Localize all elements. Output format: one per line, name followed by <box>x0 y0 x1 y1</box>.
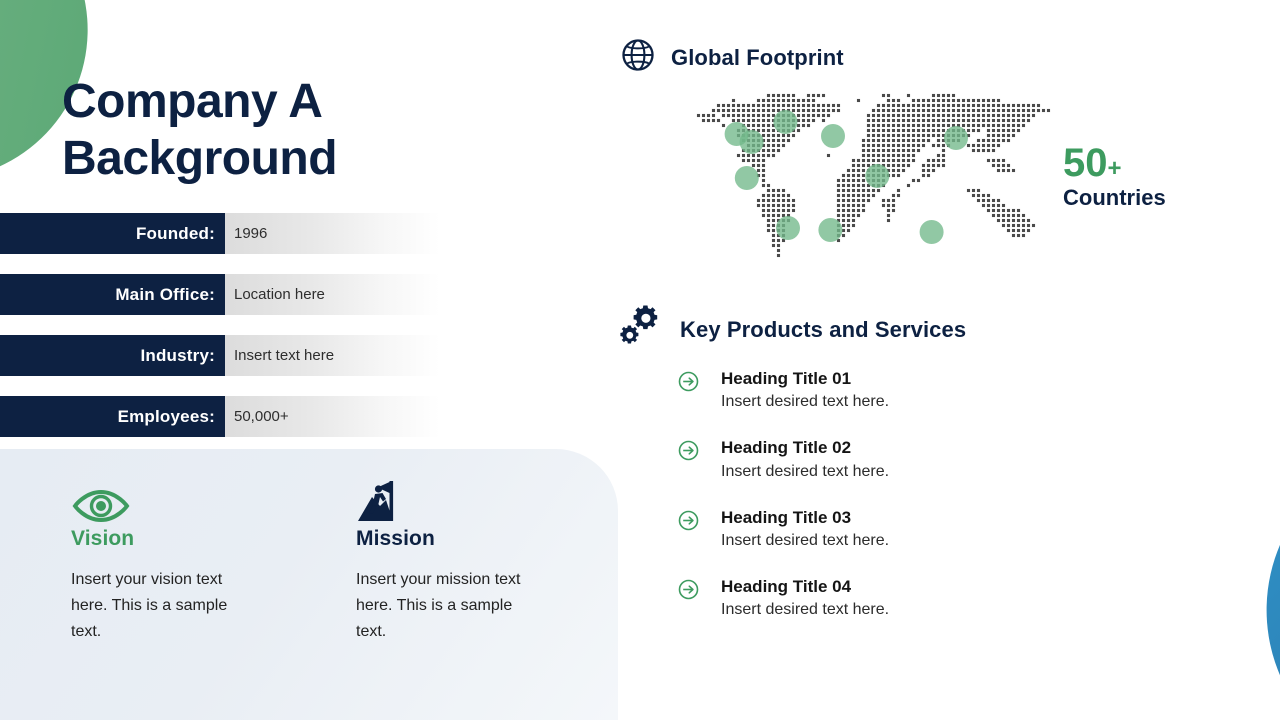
info-label-industry: Industry: <box>0 335 225 376</box>
mission-block: Mission Insert your mission text here. T… <box>356 483 566 645</box>
info-label-founded: Founded: <box>0 213 225 254</box>
decor-blue-shape-back <box>1200 378 1280 720</box>
mission-text: Insert your mission text here. This is a… <box>356 567 536 645</box>
list-item-title: Heading Title 04 <box>721 576 1098 597</box>
table-row: Employees: 50,000+ <box>0 396 440 437</box>
list-item[interactable]: Heading Title 04 Insert desired text her… <box>678 576 1098 622</box>
circle-arrow-right-icon <box>678 510 699 536</box>
list-item-desc: Insert desired text here. <box>721 460 1098 484</box>
countries-stat-plus: + <box>1108 155 1122 182</box>
table-row: Founded: 1996 <box>0 213 440 254</box>
list-item-title: Heading Title 03 <box>721 507 1098 528</box>
key-products-header: Key Products and Services <box>618 305 966 354</box>
vision-block: Vision Insert your vision text here. Thi… <box>71 483 281 645</box>
list-item[interactable]: Heading Title 01 Insert desired text her… <box>678 368 1098 414</box>
list-item-title: Heading Title 02 <box>721 437 1098 458</box>
info-value-main-office[interactable]: Location here <box>225 274 440 315</box>
world-map <box>686 88 1061 288</box>
countries-stat-label: Countries <box>1063 185 1166 210</box>
page-title: Company A Background <box>62 74 542 187</box>
key-products-list: Heading Title 01 Insert desired text her… <box>678 368 1098 645</box>
vision-heading: Vision <box>71 527 281 551</box>
info-label-employees: Employees: <box>0 396 225 437</box>
global-footprint-title: Global Footprint <box>671 45 844 71</box>
list-item-desc: Insert desired text here. <box>721 529 1098 553</box>
circle-arrow-right-icon <box>678 440 699 466</box>
list-item-desc: Insert desired text here. <box>721 598 1098 622</box>
key-products-title: Key Products and Services <box>680 317 966 343</box>
mission-heading: Mission <box>356 527 566 551</box>
countries-stat-number: 50+ <box>1063 143 1166 183</box>
list-item-title: Heading Title 01 <box>721 368 1098 389</box>
circle-arrow-right-icon <box>678 579 699 605</box>
table-row: Industry: Insert text here <box>0 335 440 376</box>
vision-text: Insert your vision text here. This is a … <box>71 567 251 645</box>
slide-root: Company A Background Founded: 1996 Main … <box>0 0 1280 720</box>
circle-arrow-right-icon <box>678 371 699 397</box>
mountain-flag-icon <box>356 483 566 523</box>
info-value-industry[interactable]: Insert text here <box>225 335 440 376</box>
info-value-founded[interactable]: 1996 <box>225 213 440 254</box>
global-footprint-header: Global Footprint <box>621 38 844 77</box>
countries-stat: 50+ Countries <box>1063 143 1166 210</box>
list-item[interactable]: Heading Title 02 Insert desired text her… <box>678 437 1098 483</box>
vision-mission-panel: Vision Insert your vision text here. Thi… <box>0 449 618 720</box>
globe-icon <box>621 38 655 77</box>
info-value-employees[interactable]: 50,000+ <box>225 396 440 437</box>
gears-icon <box>618 305 664 354</box>
company-info-table: Founded: 1996 Main Office: Location here… <box>0 213 440 457</box>
table-row: Main Office: Location here <box>0 274 440 315</box>
info-label-main-office: Main Office: <box>0 274 225 315</box>
eye-icon <box>71 483 281 523</box>
list-item-desc: Insert desired text here. <box>721 390 1098 414</box>
list-item[interactable]: Heading Title 03 Insert desired text her… <box>678 507 1098 553</box>
